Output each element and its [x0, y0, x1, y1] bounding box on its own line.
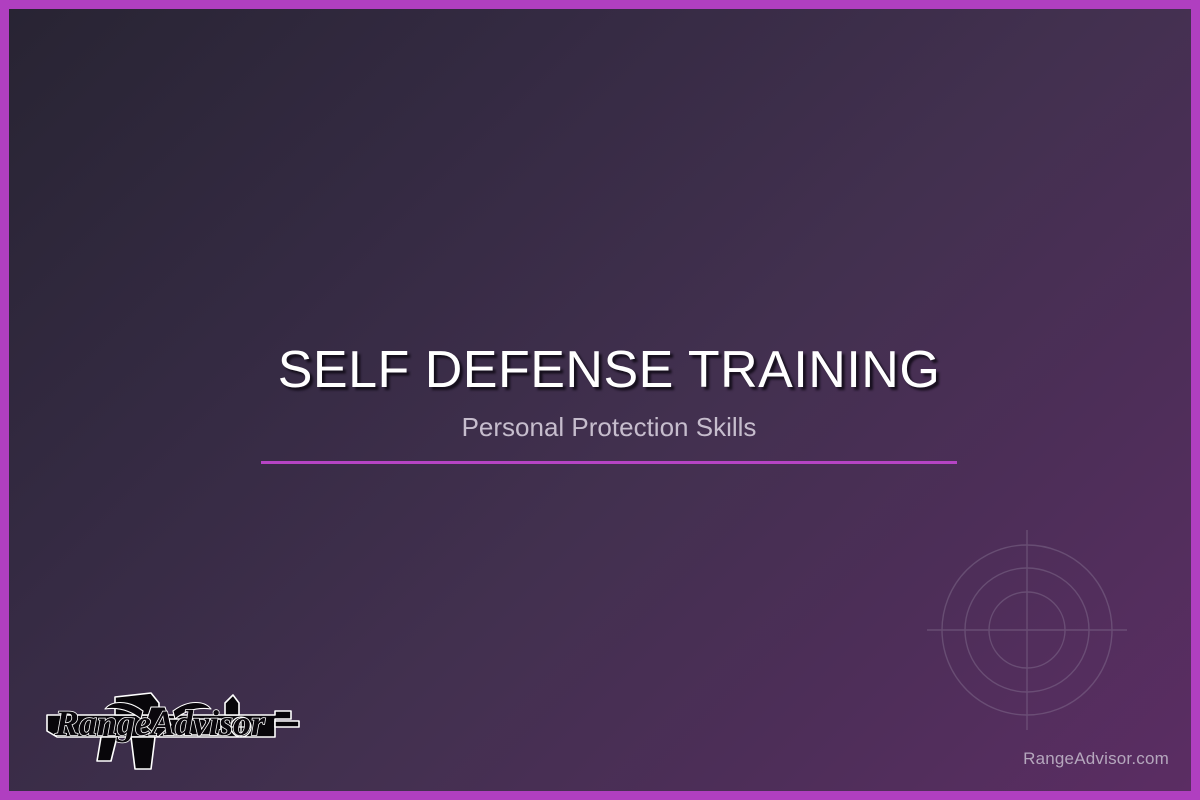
rangeadvisor-rifle-logo: RangeAdvisor — [39, 681, 303, 773]
slide-title: SELF DEFENSE TRAINING — [9, 343, 1200, 398]
presentation-slide: SELF DEFENSE TRAINING Personal Protectio… — [0, 0, 1200, 800]
slide-subtitle: Personal Protection Skills — [9, 413, 1200, 442]
title-block: SELF DEFENSE TRAINING Personal Protectio… — [9, 343, 1200, 442]
title-divider — [261, 461, 957, 464]
site-url: RangeAdvisor.com — [1023, 749, 1169, 769]
logo-wordmark: RangeAdvisor — [54, 703, 266, 743]
target-crosshair-icon — [918, 521, 1136, 739]
